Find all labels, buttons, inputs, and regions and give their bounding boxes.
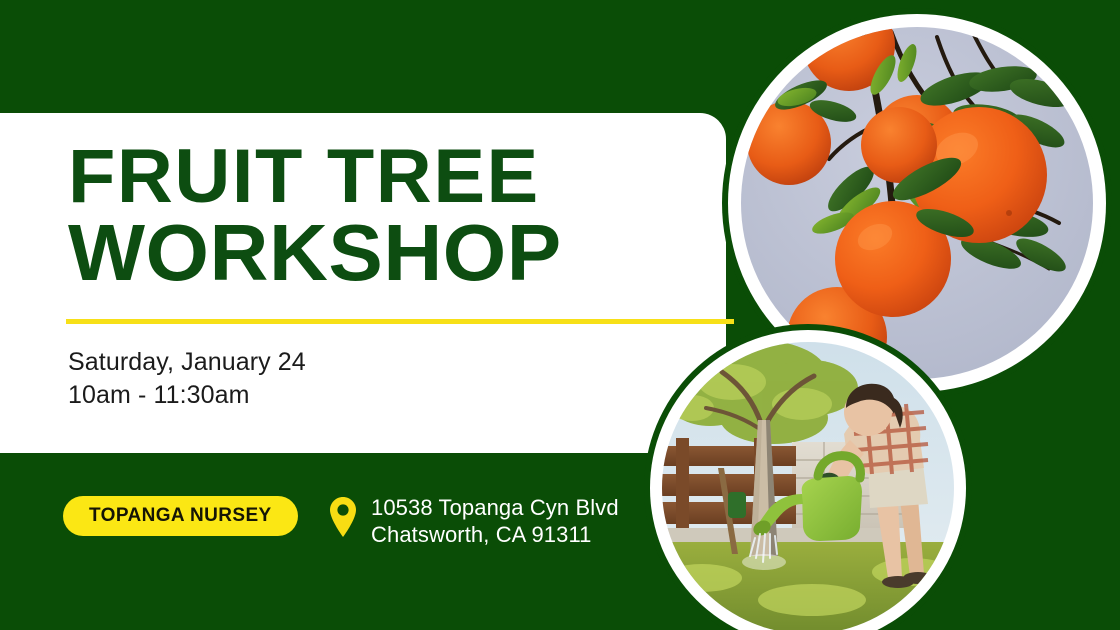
headline-line-2: WORKSHOP xyxy=(68,214,700,292)
event-date: Saturday, January 24 xyxy=(68,346,306,379)
watering-tree-photo xyxy=(650,330,966,630)
address-line-2: Chatsworth, CA 91311 xyxy=(371,521,619,548)
address: 10538 Topanga Cyn Blvd Chatsworth, CA 91… xyxy=(371,494,619,549)
schedule-block: Saturday, January 24 10am - 11:30am xyxy=(68,346,306,412)
map-pin-icon xyxy=(328,496,358,538)
page-title: FRUIT TREE WORKSHOP xyxy=(68,140,688,291)
address-line-1: 10538 Topanga Cyn Blvd xyxy=(371,494,619,521)
fruit-tree-workshop-poster: FRUIT TREE WORKSHOP Saturday, January 24… xyxy=(0,0,1120,630)
yellow-divider xyxy=(66,319,734,324)
watering-photo-inner xyxy=(662,342,954,630)
location-block: 10538 Topanga Cyn Blvd Chatsworth, CA 91… xyxy=(328,494,619,549)
headline-line-1: FRUIT TREE xyxy=(68,140,700,214)
event-time: 10am - 11:30am xyxy=(68,379,306,412)
brand-badge[interactable]: TOPANGA NURSEY xyxy=(63,496,298,536)
oranges-photo-inner xyxy=(741,27,1093,379)
brand-name: TOPANGA NURSEY xyxy=(89,505,272,527)
